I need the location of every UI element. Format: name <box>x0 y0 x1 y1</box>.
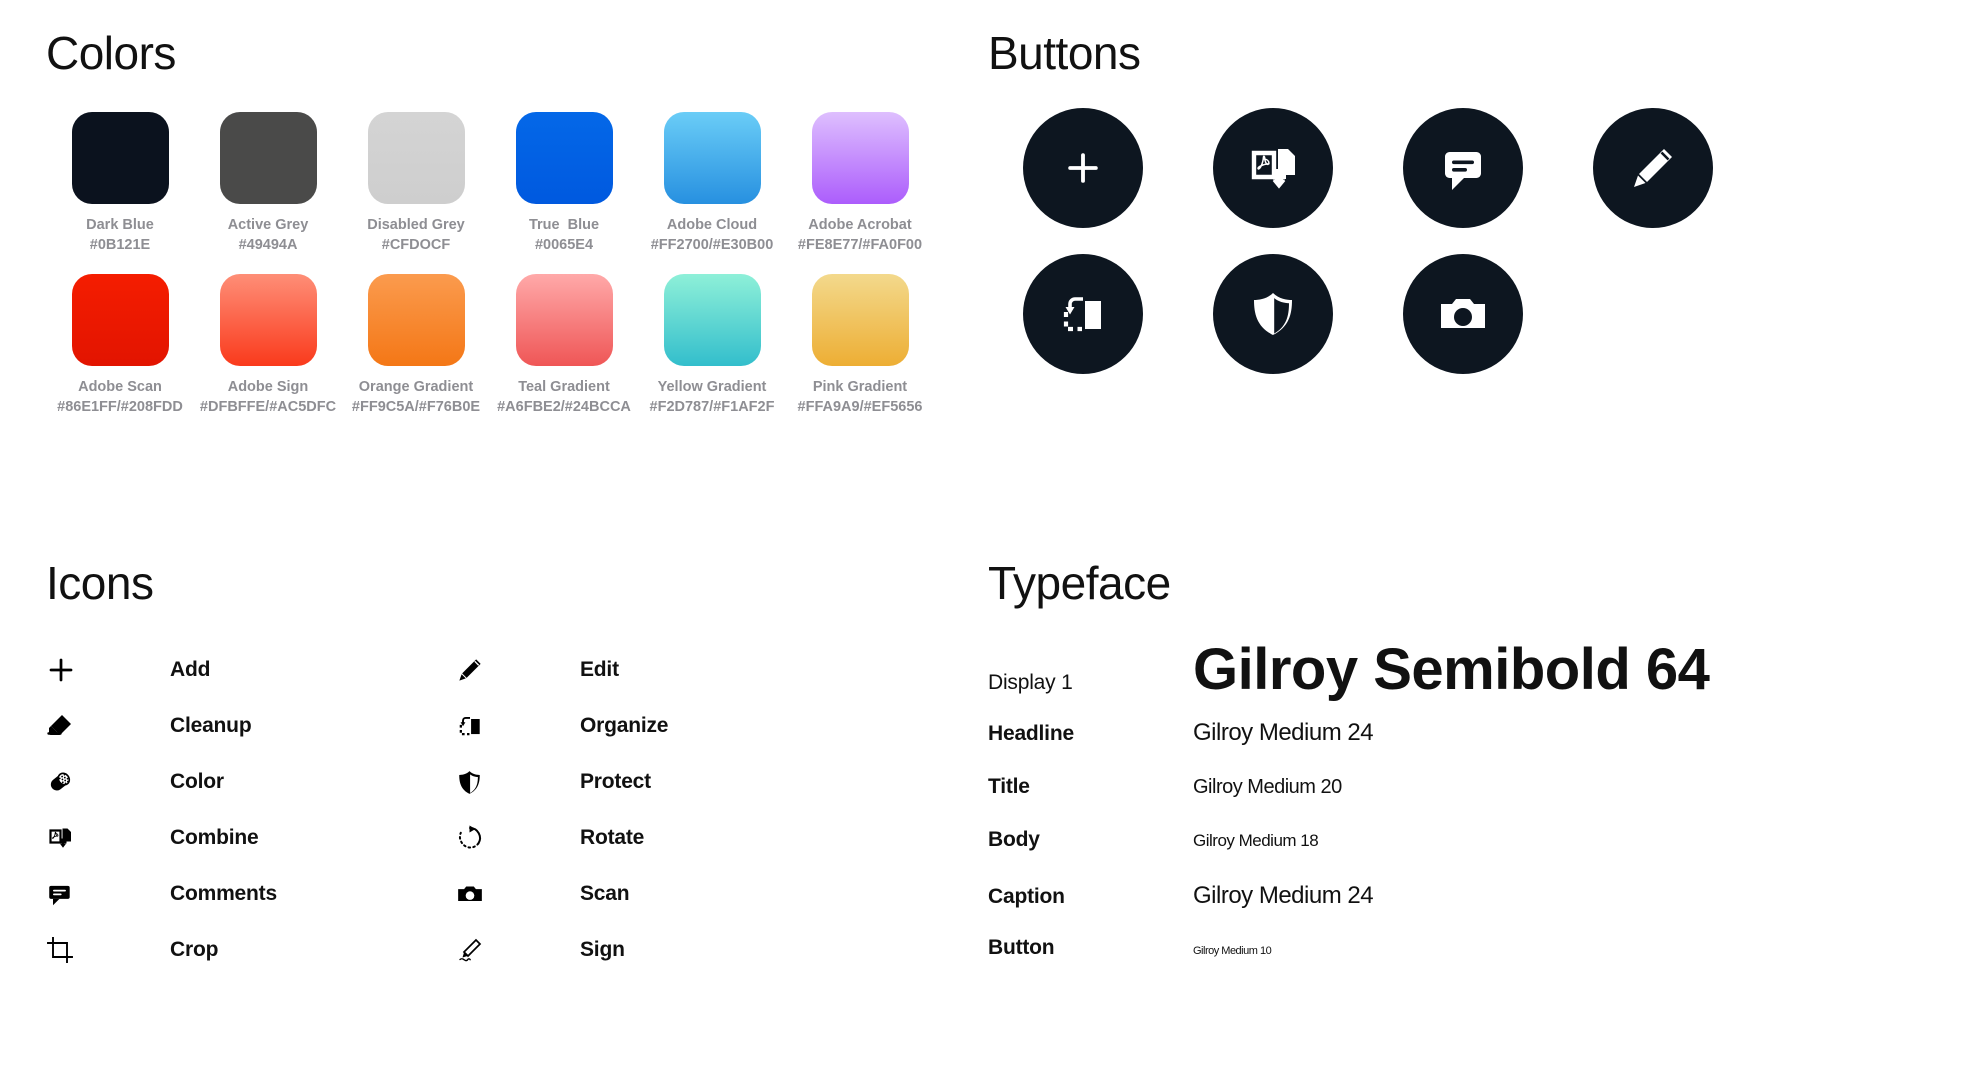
color-swatch-pink-gradient[interactable]: Pink Gradient #FFA9A9/#EF5656 <box>786 274 934 416</box>
swatch-name: Adobe Sign <box>228 378 309 396</box>
swatch-chip <box>72 112 169 204</box>
swatch-chip <box>812 112 909 204</box>
typeface-row-label: Headline <box>988 722 1193 746</box>
typeface-row-sample: Gilroy Semibold 64 <box>1193 640 1709 701</box>
button-cell <box>988 254 1178 374</box>
typeface-scale-list: Display 1 Gilroy Semibold 64 Headline Gi… <box>988 640 1948 960</box>
swatch-name: Adobe Cloud <box>667 216 757 234</box>
typeface-row-label: Body <box>988 828 1193 852</box>
icon-label: Add <box>170 658 210 682</box>
swatch-name: Orange Gradient <box>359 378 473 396</box>
icon-row-sign[interactable]: Sign <box>456 922 866 978</box>
swatch-hex: #F2D787/#F1AF2F <box>650 398 775 416</box>
colors-heading: Colors <box>46 30 946 76</box>
edit-icon <box>456 656 504 684</box>
typeface-row-sample: Gilroy Medium 18 <box>1193 831 1318 851</box>
swatch-name: Yellow Gradient <box>658 378 767 396</box>
color-swatch-adobe-scan[interactable]: Adobe Scan #86E1FF/#208FDD <box>46 274 194 416</box>
buttons-heading: Buttons <box>988 30 1888 76</box>
swatch-hex: #FE8E77/#FA0F00 <box>798 236 922 254</box>
swatch-name: Adobe Acrobat <box>808 216 911 234</box>
scan-icon <box>456 880 504 908</box>
icon-label: Combine <box>170 826 258 850</box>
icon-row-color[interactable]: Color <box>46 754 456 810</box>
add-button[interactable] <box>1023 108 1143 228</box>
swatch-chip <box>664 274 761 366</box>
icon-row-comments[interactable]: Comments <box>46 866 456 922</box>
scan-button[interactable] <box>1403 254 1523 374</box>
color-swatch-orange-gradient[interactable]: Orange Gradient #FF9C5A/#F76B0E <box>342 274 490 416</box>
icon-row-combine[interactable]: Combine <box>46 810 456 866</box>
swatch-chip <box>220 112 317 204</box>
typeface-row-caption: Caption Gilroy Medium 24 <box>988 882 1948 910</box>
swatch-name: Disabled Grey <box>367 216 465 234</box>
typeface-row-sample: Gilroy Medium 10 <box>1193 945 1271 957</box>
protect-icon <box>1248 289 1298 339</box>
swatch-hex: #FF9C5A/#F76B0E <box>352 398 480 416</box>
color-swatch-adobe-sign[interactable]: Adobe Sign #DFBFFE/#AC5DFC <box>194 274 342 416</box>
combine-icon <box>46 824 94 852</box>
typeface-row-sample: Gilroy Medium 20 <box>1193 776 1342 799</box>
combine-icon <box>1245 140 1301 196</box>
plus-icon <box>46 655 94 685</box>
color-swatch-grid: Dark Blue #0B121E Active Grey #49494A Di… <box>46 112 946 417</box>
typeface-row-button: Button Gilroy Medium 10 <box>988 936 1948 960</box>
organize-icon <box>1057 288 1109 340</box>
icon-row-crop[interactable]: Crop <box>46 922 456 978</box>
swatch-chip <box>72 274 169 366</box>
protect-button[interactable] <box>1213 254 1333 374</box>
swatch-name: Adobe Scan <box>78 378 162 396</box>
icon-list: Add Cleanup <box>46 642 946 978</box>
typeface-section: Typeface Display 1 Gilroy Semibold 64 He… <box>988 560 1948 980</box>
button-cell <box>1368 254 1558 374</box>
swatch-hex: #86E1FF/#208FDD <box>57 398 183 416</box>
button-cell <box>1368 108 1558 228</box>
swatch-hex: #DFBFFE/#AC5DFC <box>200 398 336 416</box>
swatch-chip <box>664 112 761 204</box>
color-swatch-disabled-grey[interactable]: Disabled Grey #CFDOCF <box>342 112 490 254</box>
color-icon <box>46 768 94 796</box>
icon-column-right: Edit Organize <box>456 642 866 978</box>
icon-row-rotate[interactable]: Rotate <box>456 810 866 866</box>
color-swatch-row: Dark Blue #0B121E Active Grey #49494A Di… <box>46 112 946 254</box>
swatch-name: True Blue <box>529 216 599 234</box>
comments-icon <box>46 880 94 908</box>
button-cell <box>1178 108 1368 228</box>
icon-label: Crop <box>170 938 218 962</box>
plus-icon <box>1061 146 1105 190</box>
typeface-row-body: Body Gilroy Medium 18 <box>988 828 1948 852</box>
swatch-chip <box>368 274 465 366</box>
icon-row-edit[interactable]: Edit <box>456 642 866 698</box>
typeface-row-label: Caption <box>988 885 1193 909</box>
color-swatch-adobe-cloud[interactable]: Adobe Cloud #FF2700/#E30B00 <box>638 112 786 254</box>
typeface-row-display-1: Display 1 Gilroy Semibold 64 <box>988 640 1948 701</box>
organize-icon <box>456 712 504 740</box>
button-grid <box>988 108 1888 374</box>
icon-label: Cleanup <box>170 714 251 738</box>
design-system-page: Colors Dark Blue #0B121E Active Grey #49… <box>0 0 1976 1080</box>
button-cell <box>988 108 1178 228</box>
typeface-row-sample: Gilroy Medium 24 <box>1193 882 1373 910</box>
comments-button[interactable] <box>1403 108 1523 228</box>
sign-icon <box>456 936 504 964</box>
combine-button[interactable] <box>1213 108 1333 228</box>
swatch-name: Dark Blue <box>86 216 154 234</box>
icon-column-left: Add Cleanup <box>46 642 456 978</box>
icon-label: Scan <box>580 882 629 906</box>
swatch-name: Teal Gradient <box>518 378 610 396</box>
swatch-chip <box>516 112 613 204</box>
swatch-hex: #0B121E <box>90 236 150 254</box>
icons-section: Icons Add <box>46 560 946 978</box>
rotate-icon <box>456 824 504 852</box>
colors-section: Colors Dark Blue #0B121E Active Grey #49… <box>46 30 946 417</box>
organize-button[interactable] <box>1023 254 1143 374</box>
icon-label: Organize <box>580 714 668 738</box>
button-cell <box>1558 108 1748 228</box>
button-row <box>988 254 1888 374</box>
color-swatch-adobe-acrobat[interactable]: Adobe Acrobat #FE8E77/#FA0F00 <box>786 112 934 254</box>
swatch-hex: #0065E4 <box>535 236 593 254</box>
icon-label: Rotate <box>580 826 644 850</box>
button-cell <box>1178 254 1368 374</box>
icons-heading: Icons <box>46 560 946 606</box>
swatch-chip <box>516 274 613 366</box>
typeface-row-sample: Gilroy Medium 24 <box>1193 719 1373 747</box>
buttons-section: Buttons <box>988 30 1888 374</box>
swatch-chip <box>220 274 317 366</box>
scan-icon <box>1437 288 1489 340</box>
icon-row-cleanup[interactable]: Cleanup <box>46 698 456 754</box>
cleanup-icon <box>46 712 94 740</box>
swatch-hex: #A6FBE2/#24BCCA <box>497 398 631 416</box>
icon-row-scan[interactable]: Scan <box>456 866 866 922</box>
typeface-heading: Typeface <box>988 560 1948 606</box>
swatch-chip <box>368 112 465 204</box>
color-swatch-true-blue[interactable]: True Blue #0065E4 <box>490 112 638 254</box>
icon-row-protect[interactable]: Protect <box>456 754 866 810</box>
typeface-row-title: Title Gilroy Medium 20 <box>988 775 1948 799</box>
color-swatch-row: Adobe Scan #86E1FF/#208FDD Adobe Sign #D… <box>46 274 946 416</box>
button-row <box>988 108 1888 228</box>
icon-label: Color <box>170 770 224 794</box>
typeface-row-label: Button <box>988 936 1193 960</box>
swatch-hex: #FFA9A9/#EF5656 <box>798 398 923 416</box>
color-swatch-yellow-gradient[interactable]: Yellow Gradient #F2D787/#F1AF2F <box>638 274 786 416</box>
swatch-hex: #FF2700/#E30B00 <box>651 236 774 254</box>
edit-button[interactable] <box>1593 108 1713 228</box>
crop-icon <box>46 936 94 964</box>
swatch-name: Active Grey <box>228 216 309 234</box>
swatch-hex: #CFDOCF <box>382 236 450 254</box>
icon-label: Protect <box>580 770 651 794</box>
swatch-name: Pink Gradient <box>813 378 907 396</box>
typeface-row-headline: Headline Gilroy Medium 24 <box>988 719 1948 747</box>
color-swatch-active-grey[interactable]: Active Grey #49494A <box>194 112 342 254</box>
edit-icon <box>1628 143 1678 193</box>
button-cell-empty <box>1558 254 1748 374</box>
icon-label: Comments <box>170 882 277 906</box>
icon-row-organize[interactable]: Organize <box>456 698 866 754</box>
protect-icon <box>456 769 504 796</box>
icon-row-add[interactable]: Add <box>46 642 456 698</box>
icon-label: Sign <box>580 938 625 962</box>
icon-label: Edit <box>580 658 619 682</box>
typeface-row-label: Title <box>988 775 1193 799</box>
typeface-row-label: Display 1 <box>988 671 1193 695</box>
comments-icon <box>1437 142 1489 194</box>
color-swatch-dark-blue[interactable]: Dark Blue #0B121E <box>46 112 194 254</box>
color-swatch-teal-gradient[interactable]: Teal Gradient #A6FBE2/#24BCCA <box>490 274 638 416</box>
swatch-hex: #49494A <box>239 236 298 254</box>
swatch-chip <box>812 274 909 366</box>
